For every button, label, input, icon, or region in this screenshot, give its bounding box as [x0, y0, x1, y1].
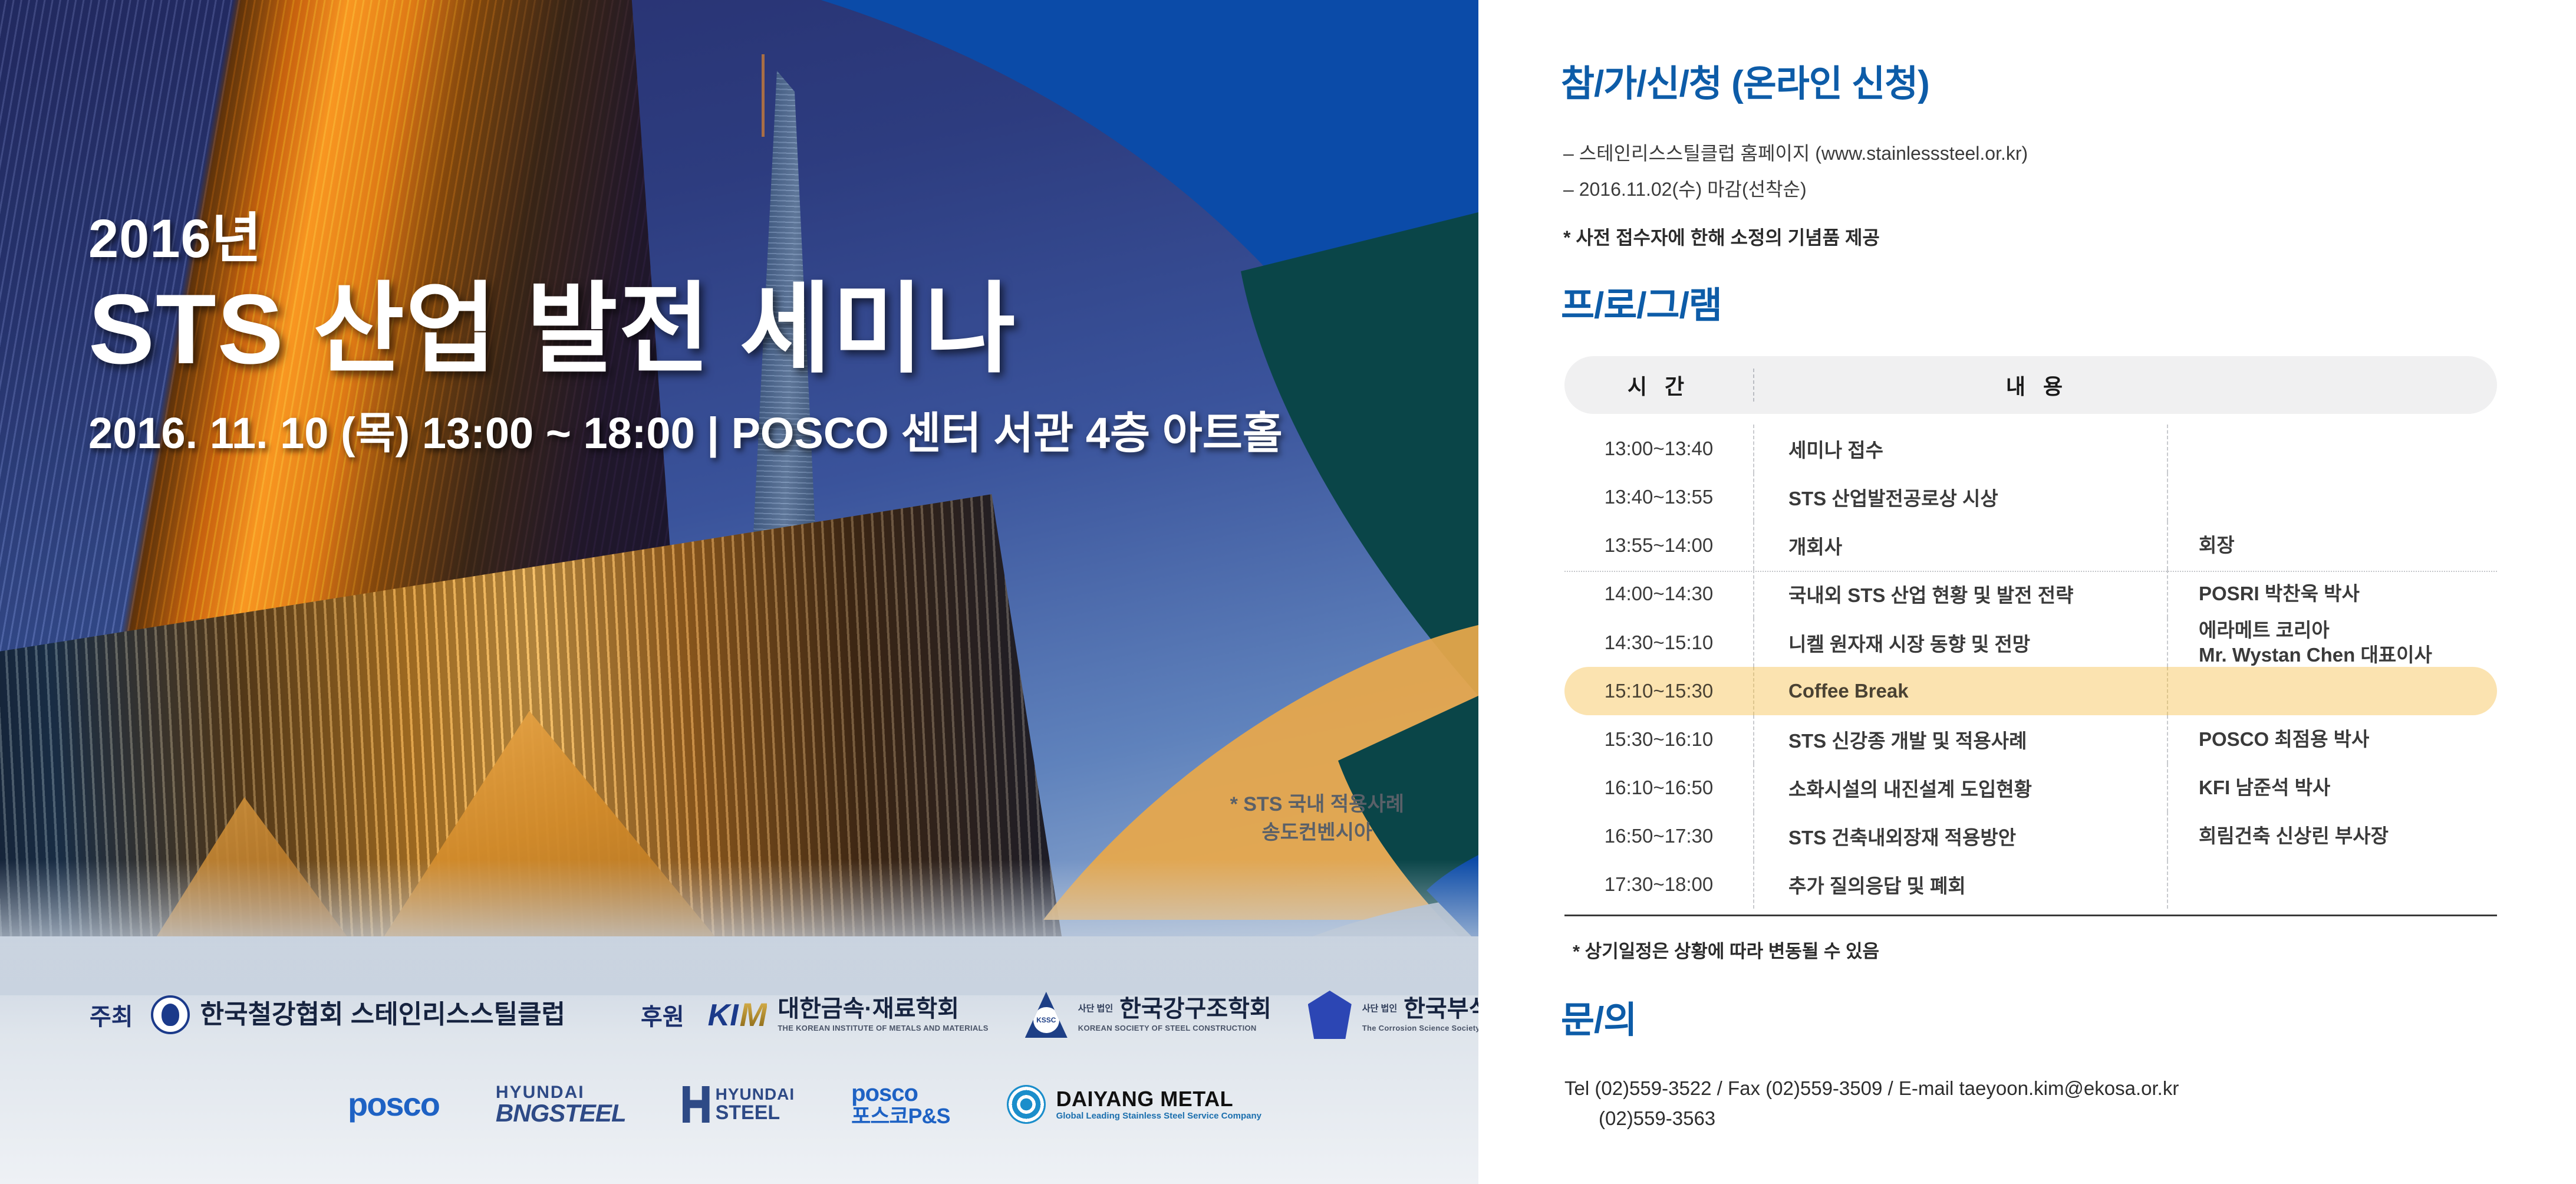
hyundai-h-icon: [683, 1086, 710, 1123]
daiyang-metal-logo: DAIYANG METAL Global Leading Stainless S…: [1007, 1085, 1261, 1124]
daiyang-metal-logo-top: DAIYANG METAL: [1056, 1087, 1261, 1111]
apply-note-gift: * 사전 접수자에 한해 소정의 기념품 제공: [1563, 223, 2028, 250]
poster-page: 2016년 STS 산업 발전 세미나 2016. 11. 10 (목) 13:…: [0, 0, 2576, 1184]
cell-speaker: 에라메트 코리아 Mr. Wystan Chen 대표이사: [2168, 618, 2497, 667]
cell-divider: [2167, 667, 2168, 715]
cell-topic: 추가 질의응답 및 폐회: [1754, 870, 2167, 899]
supporter-kim-name-ko: 대한금속·재료학회: [778, 997, 988, 1021]
host-organization: 한국철강협회 스테인리스스틸클럽: [151, 995, 565, 1034]
apply-heading: 참/가/신/청 (온라인 신청): [1561, 66, 1929, 103]
supporter-cssk-prefix: 사단 법인: [1362, 1004, 1397, 1014]
supporter-cssk: 사단 법인 한국부식방식학회 The Corrosion Science Soc…: [1308, 991, 1478, 1039]
supporter-kssc-prefix: 사단 법인: [1078, 1004, 1113, 1014]
apply-details: – 스테인리스스틸클럽 홈페이지 (www.stainlesssteel.or.…: [1563, 136, 2028, 250]
cssk-logo-icon: [1308, 991, 1352, 1039]
table-row: 13:40~13:55STS 산업발전공로상 시상: [1564, 473, 2497, 521]
hyundai-steel-logo-top: HYUNDAI: [716, 1086, 795, 1103]
table-row: 14:30~15:10니켈 원자재 시장 동향 및 전망에라메트 코리아 Mr.…: [1564, 618, 2497, 667]
posco-logo: posco: [348, 1088, 439, 1121]
table-row: 15:30~16:10STS 신강종 개발 및 적용사례POSCO 최점용 박사: [1564, 715, 2497, 764]
content-right-panel: 참/가/신/청 (온라인 신청) – 스테인리스스틸클럽 홈페이지 (www.s…: [1478, 0, 2576, 1184]
program-table: 시 간 내 용 13:00~13:40세미나 접수13:40~13:55STS …: [1564, 356, 2497, 963]
bng-steel-logo-top: HYUNDAI: [496, 1084, 626, 1101]
support-label: 후원: [641, 998, 684, 1032]
table-row: 14:00~14:30국내외 STS 산업 현황 및 발전 전략POSRI 박찬…: [1564, 570, 2497, 618]
cell-topic: 소화시설의 내진설계 도입현황: [1754, 774, 2167, 802]
kim-logo-icon: KIM: [708, 1000, 767, 1030]
cell-time: 13:00~13:40: [1564, 438, 1753, 460]
cell-speaker: 회장: [2168, 533, 2497, 558]
sponsor-row-primary: 주최 한국철강협회 스테인리스스틸클럽 후원 KIM 대한금속·재료학회 THE…: [0, 982, 1478, 1047]
photo-caption-line1: * STS 국내 적용사례: [1230, 790, 1404, 818]
cell-topic: 개회사: [1754, 531, 2167, 560]
photo-caption: * STS 국내 적용사례 송도컨벤시아: [1230, 790, 1404, 847]
supporter-kssc-name-en: KOREAN SOCIETY OF STEEL CONSTRUCTION: [1078, 1024, 1271, 1032]
cell-speaker: 희림건축 신상린 부사장: [2168, 824, 2497, 848]
cell-topic: Coffee Break: [1754, 680, 2167, 702]
supporter-cssk-name-ko: 한국부식방식학회: [1404, 997, 1478, 1021]
ksa-seal-icon: [151, 995, 190, 1034]
cell-topic: 세미나 접수: [1754, 435, 2167, 463]
cell-time: 17:30~18:00: [1564, 873, 1753, 896]
posco-pns-logo-bottom: 포스코P&S: [851, 1106, 950, 1127]
partner-logo-row: posco HYUNDAI BNGSTEEL HYUNDAI STEEL pos…: [0, 1066, 1478, 1143]
poster-headline: 2016년 STS 산업 발전 세미나 2016. 11. 10 (목) 13:…: [88, 195, 1283, 461]
posco-pns-logo-top: posco: [851, 1081, 950, 1106]
column-header-topic: 내 용: [1754, 370, 2497, 400]
poster-subtitle: 2016. 11. 10 (목) 13:00 ~ 18:00 | POSCO 센…: [88, 398, 1283, 461]
cell-speaker: POSRI 박찬욱 박사: [2168, 581, 2497, 606]
cell-topic: STS 건축내외장재 적용방안: [1754, 822, 2167, 850]
hyundai-steel-logo-bottom: STEEL: [716, 1103, 795, 1123]
sponsor-band: [0, 936, 1478, 1184]
table-row: 13:00~13:40세미나 접수: [1564, 425, 2497, 473]
host-organization-name: 한국철강협회 스테인리스스틸클럽: [200, 1002, 565, 1028]
table-row: 13:55~14:00개회사회장: [1564, 521, 2497, 570]
program-table-bottom-rule: [1564, 915, 2497, 916]
program-heading: 프/로/그/램: [1561, 288, 1722, 324]
apply-line-homepage: – 스테인리스스틸클럽 홈페이지 (www.stainlesssteel.or.…: [1563, 136, 2028, 172]
poster-year: 2016년: [88, 195, 1283, 273]
daiyang-target-icon: [1007, 1085, 1046, 1124]
bng-steel-logo-bottom: BNGSTEEL: [496, 1101, 626, 1125]
cell-time: 16:50~17:30: [1564, 825, 1753, 847]
cell-divider: [2167, 860, 2168, 909]
table-row: 17:30~18:00추가 질의응답 및 폐회: [1564, 860, 2497, 909]
cell-time: 14:00~14:30: [1564, 583, 1753, 605]
table-row: 16:10~16:50소화시설의 내진설계 도입현황KFI 남준석 박사: [1564, 764, 2497, 812]
cell-time: 14:30~15:10: [1564, 632, 1753, 654]
contact-details: Tel (02)559-3522 / Fax (02)559-3509 / E-…: [1564, 1073, 2179, 1133]
daiyang-metal-logo-bottom: Global Leading Stainless Steel Service C…: [1056, 1111, 1261, 1121]
table-row: 16:50~17:30STS 건축내외장재 적용방안희림건축 신상린 부사장: [1564, 812, 2497, 860]
program-table-header: 시 간 내 용: [1564, 356, 2497, 414]
hyundai-steel-logo: HYUNDAI STEEL: [683, 1086, 795, 1123]
cell-time: 13:55~14:00: [1564, 534, 1753, 557]
contact-line-primary: Tel (02)559-3522 / Fax (02)559-3509 / E-…: [1564, 1073, 2179, 1103]
cell-time: 15:30~16:10: [1564, 728, 1753, 751]
supporter-kim-name-en: THE KOREAN INSTITUTE OF METALS AND MATER…: [778, 1024, 988, 1032]
table-row: 15:10~15:30Coffee Break: [1564, 667, 2497, 715]
cell-speaker: POSCO 최점용 박사: [2168, 727, 2497, 752]
host-label: 주최: [90, 998, 133, 1032]
program-note: * 상기일정은 상황에 따라 변동될 수 있음: [1564, 936, 2497, 963]
cell-time: 16:10~16:50: [1564, 777, 1753, 799]
program-table-body: 13:00~13:40세미나 접수13:40~13:55STS 산업발전공로상 …: [1564, 425, 2497, 909]
poster-left-panel: 2016년 STS 산업 발전 세미나 2016. 11. 10 (목) 13:…: [0, 0, 1478, 1184]
cell-divider: [2167, 425, 2168, 473]
cell-topic: STS 신강종 개발 및 적용사례: [1754, 725, 2167, 754]
contact-line-secondary: (02)559-3563: [1564, 1103, 2179, 1133]
cell-topic: STS 산업발전공로상 시상: [1754, 483, 2167, 511]
kssc-logo-icon: [1025, 992, 1068, 1038]
cell-time: 15:10~15:30: [1564, 680, 1753, 702]
contact-heading: 문/의: [1561, 1002, 1636, 1039]
cell-topic: 니켈 원자재 시장 동향 및 전망: [1754, 629, 2167, 657]
posco-pns-logo: posco 포스코P&S: [851, 1081, 950, 1127]
supporter-kssc: 사단 법인 한국강구조학회 KOREAN SOCIETY OF STEEL CO…: [1025, 992, 1271, 1038]
supporter-kssc-name-ko: 한국강구조학회: [1119, 997, 1271, 1021]
cell-time: 13:40~13:55: [1564, 486, 1753, 508]
poster-title: STS 산업 발전 세미나: [88, 277, 1283, 383]
cell-topic: 국내외 STS 산업 현황 및 발전 전략: [1754, 580, 2167, 608]
photo-caption-line2: 송도컨벤시아: [1230, 818, 1404, 847]
bng-steel-logo: HYUNDAI BNGSTEEL: [496, 1084, 626, 1126]
supporter-cssk-name-en: The Corrosion Science Society of Korea: [1362, 1024, 1478, 1032]
supporter-kim: KIM 대한금속·재료학회 THE KOREAN INSTITUTE OF ME…: [708, 997, 989, 1032]
cell-divider: [2167, 473, 2168, 521]
column-header-time: 시 간: [1564, 370, 1753, 400]
cell-speaker: KFI 남준석 박사: [2168, 775, 2497, 800]
apply-line-deadline: – 2016.11.02(수) 마감(선착순): [1563, 172, 2028, 208]
